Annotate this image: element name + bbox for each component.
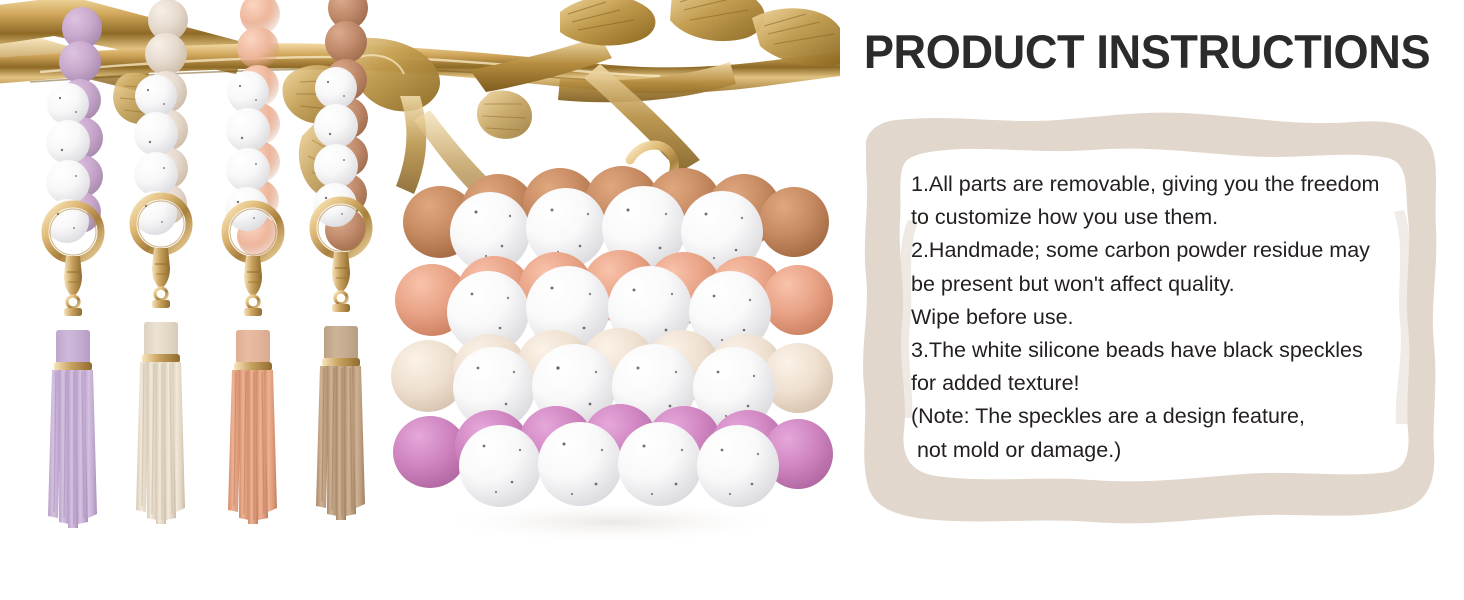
page-title: PRODUCT INSTRUCTIONS	[856, 24, 1438, 79]
instruction-line-5: Wipe before use.	[911, 301, 1411, 334]
instruction-line-9: not mold or damage.)	[911, 434, 1411, 467]
stacked-bracelets-group	[0, 0, 840, 600]
instruction-line-3: 2.Handmade; some carbon powder residue m…	[911, 234, 1411, 267]
instruction-line-4: be present but won't affect quality.	[911, 268, 1411, 301]
product-instructions-banner: PRODUCT INSTRUCTIONS 1.All parts are rem…	[0, 0, 1464, 600]
info-panel: PRODUCT INSTRUCTIONS 1.All parts are rem…	[830, 0, 1464, 600]
product-photo	[0, 0, 840, 600]
instruction-line-7: for added texture!	[911, 367, 1411, 400]
instruction-line-1: 1.All parts are removable, giving you th…	[911, 168, 1411, 201]
instruction-line-8: (Note: The speckles are a design feature…	[911, 400, 1411, 433]
instructions-text: 1.All parts are removable, giving you th…	[911, 168, 1411, 467]
instruction-line-2: to customize how you use them.	[911, 201, 1411, 234]
instructions-frame: 1.All parts are removable, giving you th…	[848, 100, 1448, 530]
stacked-bracelet-orchid	[393, 404, 833, 507]
instruction-line-6: 3.The white silicone beads have black sp…	[911, 334, 1411, 367]
